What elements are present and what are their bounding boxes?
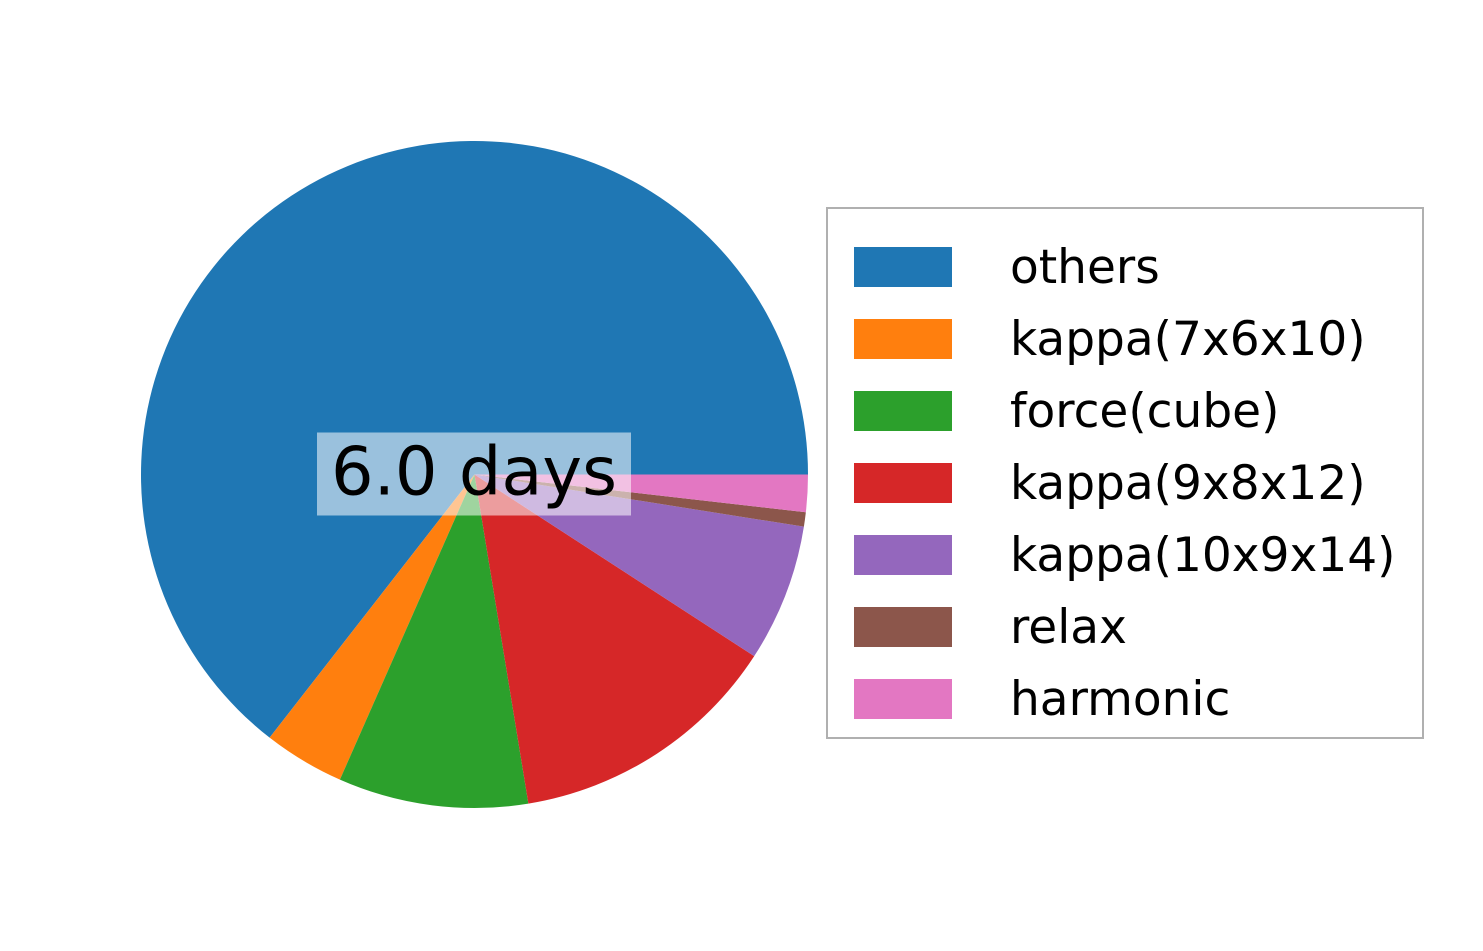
chart-page: 6.0 days otherskappa(7x6x10)force(cube)k… [0, 0, 1483, 951]
legend-item-kappa10x9x14: kappa(10x9x14) [828, 519, 1422, 591]
legend-item-others: others [828, 231, 1422, 303]
legend-swatch-icon [854, 319, 952, 359]
legend-swatch-icon [854, 391, 952, 431]
legend-label: force(cube) [1010, 388, 1279, 435]
legend-item-relax: relax [828, 591, 1422, 663]
pie-slices-group [141, 141, 808, 808]
legend-label: kappa(7x6x10) [1010, 316, 1366, 363]
legend-label: harmonic [1010, 676, 1230, 723]
legend-swatch-icon [854, 535, 952, 575]
legend-rows: otherskappa(7x6x10)force(cube)kappa(9x8x… [828, 231, 1422, 735]
legend-item-kappa9x8x12: kappa(9x8x12) [828, 447, 1422, 519]
legend-item-harmonic: harmonic [828, 663, 1422, 735]
chart-legend: otherskappa(7x6x10)force(cube)kappa(9x8x… [826, 207, 1424, 739]
legend-label: others [1010, 244, 1160, 291]
legend-swatch-icon [854, 607, 952, 647]
legend-label: kappa(10x9x14) [1010, 532, 1395, 579]
legend-swatch-icon [854, 247, 952, 287]
legend-item-kappa7x6x10: kappa(7x6x10) [828, 303, 1422, 375]
legend-item-forcecube: force(cube) [828, 375, 1422, 447]
legend-label: kappa(9x8x12) [1010, 460, 1366, 507]
legend-swatch-icon [854, 679, 952, 719]
legend-label: relax [1010, 604, 1127, 651]
legend-swatch-icon [854, 463, 952, 503]
